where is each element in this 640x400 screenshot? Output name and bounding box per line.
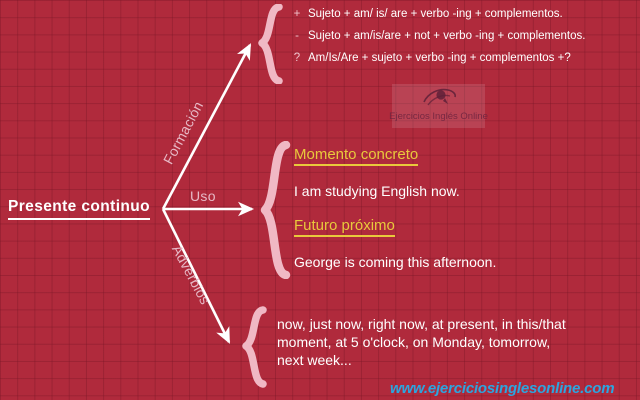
logo-text: Ejercicios Inglés Online <box>389 111 488 122</box>
formula-text-negative: Sujeto + am/is/are + not + verbo -ing + … <box>308 30 585 42</box>
branch-label-formacion: Formación <box>160 98 206 166</box>
panel-adverbios: now, just now, right now, at present, in… <box>277 315 577 369</box>
site-url[interactable]: www.ejerciciosinglesonline.com <box>390 380 614 397</box>
branch-label-uso: Uso <box>190 188 216 204</box>
uso-heading-momento-concreto: Momento concreto <box>294 146 418 166</box>
watermark-logo: Ejercicios Inglés Online <box>392 84 485 128</box>
formula-text-affirmative: Sujeto + am/ is/ are + verbo -ing + comp… <box>308 8 563 20</box>
uso-example-momento-concreto: I am studying English now. <box>294 183 634 199</box>
formula-text-interrogative: Am/Is/Are + sujeto + verbo -ing + comple… <box>308 52 571 64</box>
root-label: Presente continuo <box>8 198 150 220</box>
branch-label-adverbios: Adverbios <box>169 242 214 307</box>
panel-uso: Momento concreto I am studying English n… <box>294 146 634 270</box>
spacer <box>294 237 634 254</box>
formula-row: - Sujeto + am/is/are + not + verbo -ing … <box>286 30 634 52</box>
spacer <box>294 166 634 183</box>
formula-symbol-interrogative: ? <box>286 52 308 64</box>
brace-adverbios <box>239 306 269 388</box>
panel-formacion: + Sujeto + am/ is/ are + verbo -ing + co… <box>286 8 634 74</box>
formula-row: + Sujeto + am/ is/ are + verbo -ing + co… <box>286 8 634 30</box>
spacer <box>294 199 634 217</box>
brace-uso <box>258 141 292 279</box>
uso-example-futuro-proximo: George is coming this afternoon. <box>294 254 634 270</box>
brace-formacion <box>255 4 285 84</box>
uso-entry: Futuro próximo <box>294 217 634 237</box>
formula-symbol-affirmative: + <box>286 8 308 20</box>
globe-swoosh-icon <box>419 86 459 110</box>
infographic-canvas: Presente continuo Formación Uso Adverbio… <box>0 0 640 400</box>
uso-entry: Momento concreto <box>294 146 634 166</box>
formula-symbol-negative: - <box>286 30 308 42</box>
uso-heading-futuro-proximo: Futuro próximo <box>294 217 395 237</box>
formula-row: ? Am/Is/Are + sujeto + verbo -ing + comp… <box>286 52 634 74</box>
